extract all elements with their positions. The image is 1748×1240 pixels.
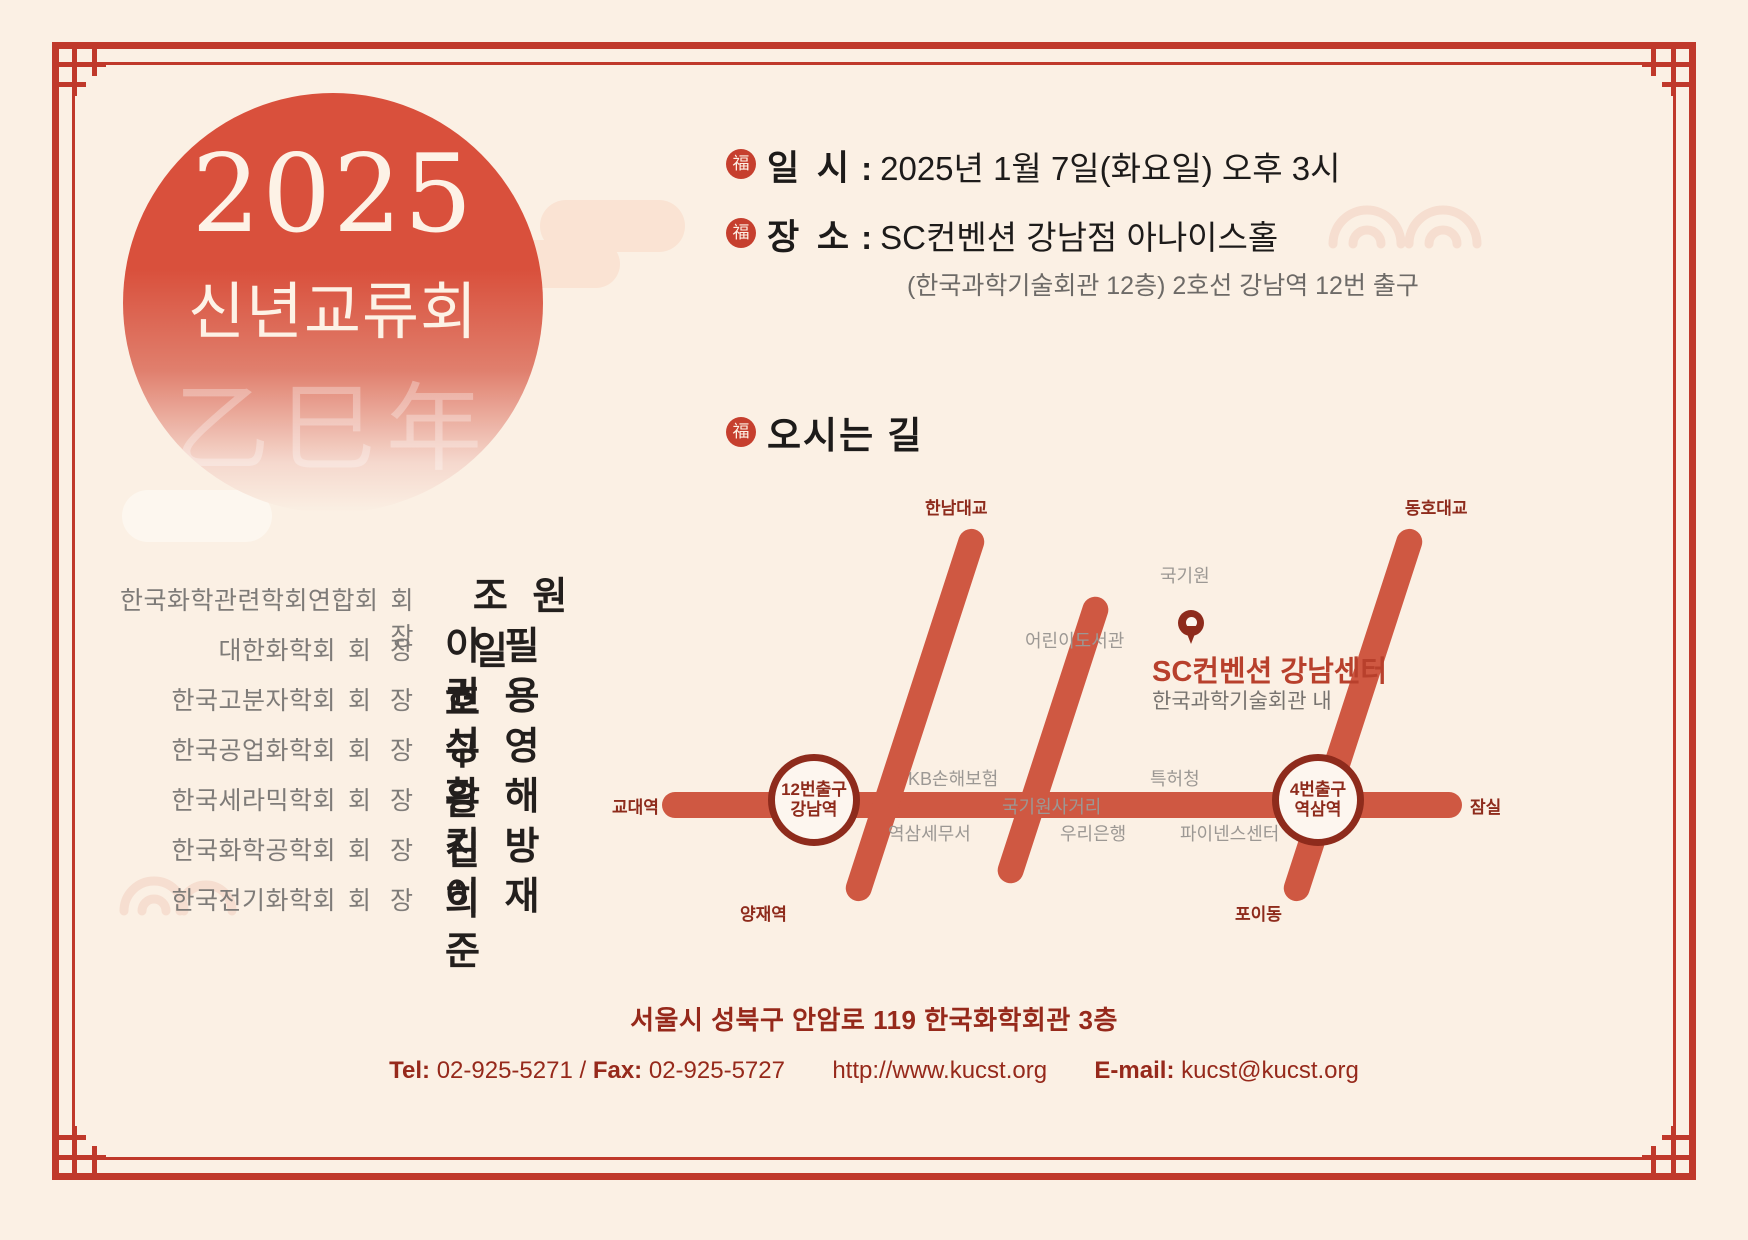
logo-circle: 2025 신년교류회 乙巳年 — [123, 93, 543, 513]
footer-fax-label: Fax: — [593, 1057, 642, 1084]
officer-org: 한국세라믹학회 — [172, 781, 337, 817]
map-poi-kukkiwon: 국기원 — [1160, 562, 1210, 588]
officer-name: 이 재 준 — [445, 865, 580, 975]
map-poi-kukkiwon-intersection: 국기원사거리 — [1002, 793, 1101, 819]
officer-org: 한국공업화학회 — [172, 731, 337, 767]
footer-contact-line: Tel: 02-925-5271 / Fax: 02-925-5727 http… — [0, 1057, 1748, 1085]
officer-row: 한국고분자학회 회 장 권 용 구 — [120, 665, 580, 715]
station-gangnam-name: 강남역 — [791, 800, 838, 820]
officer-org: 한국전기화학회 — [172, 881, 337, 917]
officer-row: 한국화학관련학회연합회 회 장 조 원 일 — [120, 565, 580, 615]
fu-seal-icon-datetime: 福 — [726, 149, 756, 179]
map-endpoint-hannam-bridge: 한남대교 — [925, 494, 988, 519]
info-colon-datetime: : — [861, 150, 872, 188]
officer-org: 한국화학공학회 — [172, 831, 337, 867]
station-yeoksam-exit: 4번출구 — [1290, 780, 1346, 800]
map-venue-sub: 한국과학기술회관 내 — [1152, 685, 1332, 715]
info-note-venue: (한국과학기술회관 12층) 2호선 강남역 12번 출구 — [907, 266, 1419, 302]
info-value-datetime: 2025년 1월 7일(화요일) 오후 3시 — [880, 142, 1340, 190]
footer-fax-value: 02-925-5727 — [649, 1057, 785, 1084]
map-poi-patent-office: 특허청 — [1150, 765, 1200, 791]
map-poi-kb-insurance: KB손해보험 — [908, 765, 998, 791]
officer-title: 회 장 — [348, 831, 419, 867]
logo-year: 2025 — [123, 141, 543, 249]
officer-title: 회 장 — [348, 781, 419, 817]
officer-org: 대한화학회 — [219, 631, 337, 667]
map-endpoint-poidong: 포이동 — [1235, 900, 1282, 925]
footer-tel-label: Tel: — [389, 1057, 430, 1084]
footer: 서울시 성북구 안암로 119 한국화학회관 3층 Tel: 02-925-52… — [0, 1000, 1748, 1085]
info-label-venue: 장 소 — [767, 209, 853, 260]
officer-row: 한국전기화학회 회 장 이 재 준 — [120, 865, 580, 915]
station-yeoksam[interactable]: 4번출구 역삼역 — [1272, 754, 1364, 846]
corner-ornament-bottom-left — [52, 1106, 126, 1180]
station-yeoksam-name: 역삼역 — [1295, 800, 1342, 820]
officer-title: 회 장 — [348, 631, 419, 667]
info-value-venue: SC컨벤션 강남점 아나이스홀 — [880, 211, 1278, 259]
station-gangnam-exit: 12번출구 — [781, 780, 847, 800]
map-endpoint-yangjae-station: 양재역 — [740, 900, 787, 925]
officer-row: 한국공업화학회 회 장 성 영 은 — [120, 715, 580, 765]
officers-list: 한국화학관련학회연합회 회 장 조 원 일 대한화학회 회 장 이 필 호 한국… — [120, 565, 580, 915]
map-poi-finance-center: 파이넨스센터 — [1180, 820, 1279, 846]
poster-root: 2025 신년교류회 乙巳年 福 일 시 : 2025년 1월 7일(화요일) … — [0, 0, 1748, 1240]
fu-seal-icon-venue: 福 — [726, 218, 756, 248]
logo-watermark-zodiac: 乙巳年 — [123, 351, 543, 490]
officer-org: 한국고분자학회 — [172, 681, 337, 717]
info-colon-venue: : — [861, 219, 872, 257]
map-endpoint-gyodae-station: 교대역 — [612, 793, 659, 818]
map-endpoint-jamsil: 잠실 — [1470, 793, 1501, 818]
officer-org: 한국화학관련학회연합회 — [120, 581, 379, 617]
map-poi-woori-bank: 우리은행 — [1060, 820, 1126, 846]
info-row-datetime: 福 일 시 : 2025년 1월 7일(화요일) 오후 3시 — [726, 140, 1596, 191]
map-poi-yeoksam-tax-office: 역삼세무서 — [888, 820, 971, 846]
officer-title: 회 장 — [348, 681, 419, 717]
footer-address: 서울시 성북구 안암로 119 한국화학회관 3층 — [0, 1000, 1748, 1037]
fu-seal-icon-directions: 福 — [726, 417, 756, 447]
logo-subtitle: 신년교류회 — [123, 261, 543, 351]
footer-website-link[interactable]: http://www.kucst.org — [832, 1057, 1047, 1084]
road-diagonal-dongho — [1280, 526, 1425, 905]
footer-email-value[interactable]: kucst@kucst.org — [1181, 1057, 1359, 1084]
location-map: 한남대교 동호대교 교대역 잠실 양재역 포이동 12번출구 강남역 4번출구 … — [640, 480, 1660, 950]
officer-row: 한국화학공학회 회 장 김 방 희 — [120, 815, 580, 865]
officer-title: 회 장 — [348, 731, 419, 767]
station-gangnam[interactable]: 12번출구 강남역 — [768, 754, 860, 846]
map-pin-icon — [1178, 610, 1204, 644]
corner-ornament-top-left — [52, 42, 126, 116]
officer-row: 한국세라믹학회 회 장 황 해 진 — [120, 765, 580, 815]
info-row-venue: 福 장 소 : SC컨벤션 강남점 아나이스홀 (한국과학기술회관 12층) 2… — [726, 209, 1596, 302]
footer-tel-value: 02-925-5271 — [437, 1057, 573, 1084]
map-venue-name: SC컨벤션 강남센터 — [1152, 648, 1387, 690]
footer-email-label: E-mail: — [1094, 1057, 1174, 1084]
map-endpoint-dongho-bridge: 동호대교 — [1405, 494, 1468, 519]
footer-separator: / — [579, 1057, 586, 1084]
directions-title: 오시는 길 — [767, 405, 923, 459]
cloud-decoration-left-2 — [122, 490, 272, 542]
road-diagonal-hannam — [842, 526, 987, 905]
event-info-block: 福 일 시 : 2025년 1월 7일(화요일) 오후 3시 福 장 소 : S… — [726, 140, 1596, 320]
corner-ornament-bottom-right — [1622, 1106, 1696, 1180]
corner-ornament-top-right — [1622, 42, 1696, 116]
officer-row: 대한화학회 회 장 이 필 호 — [120, 615, 580, 665]
info-label-datetime: 일 시 — [767, 140, 853, 191]
directions-heading: 福 오시는 길 — [726, 405, 923, 459]
map-poi-childrens-library: 어린이도서관 — [1025, 627, 1124, 653]
officer-title: 회 장 — [348, 881, 419, 917]
